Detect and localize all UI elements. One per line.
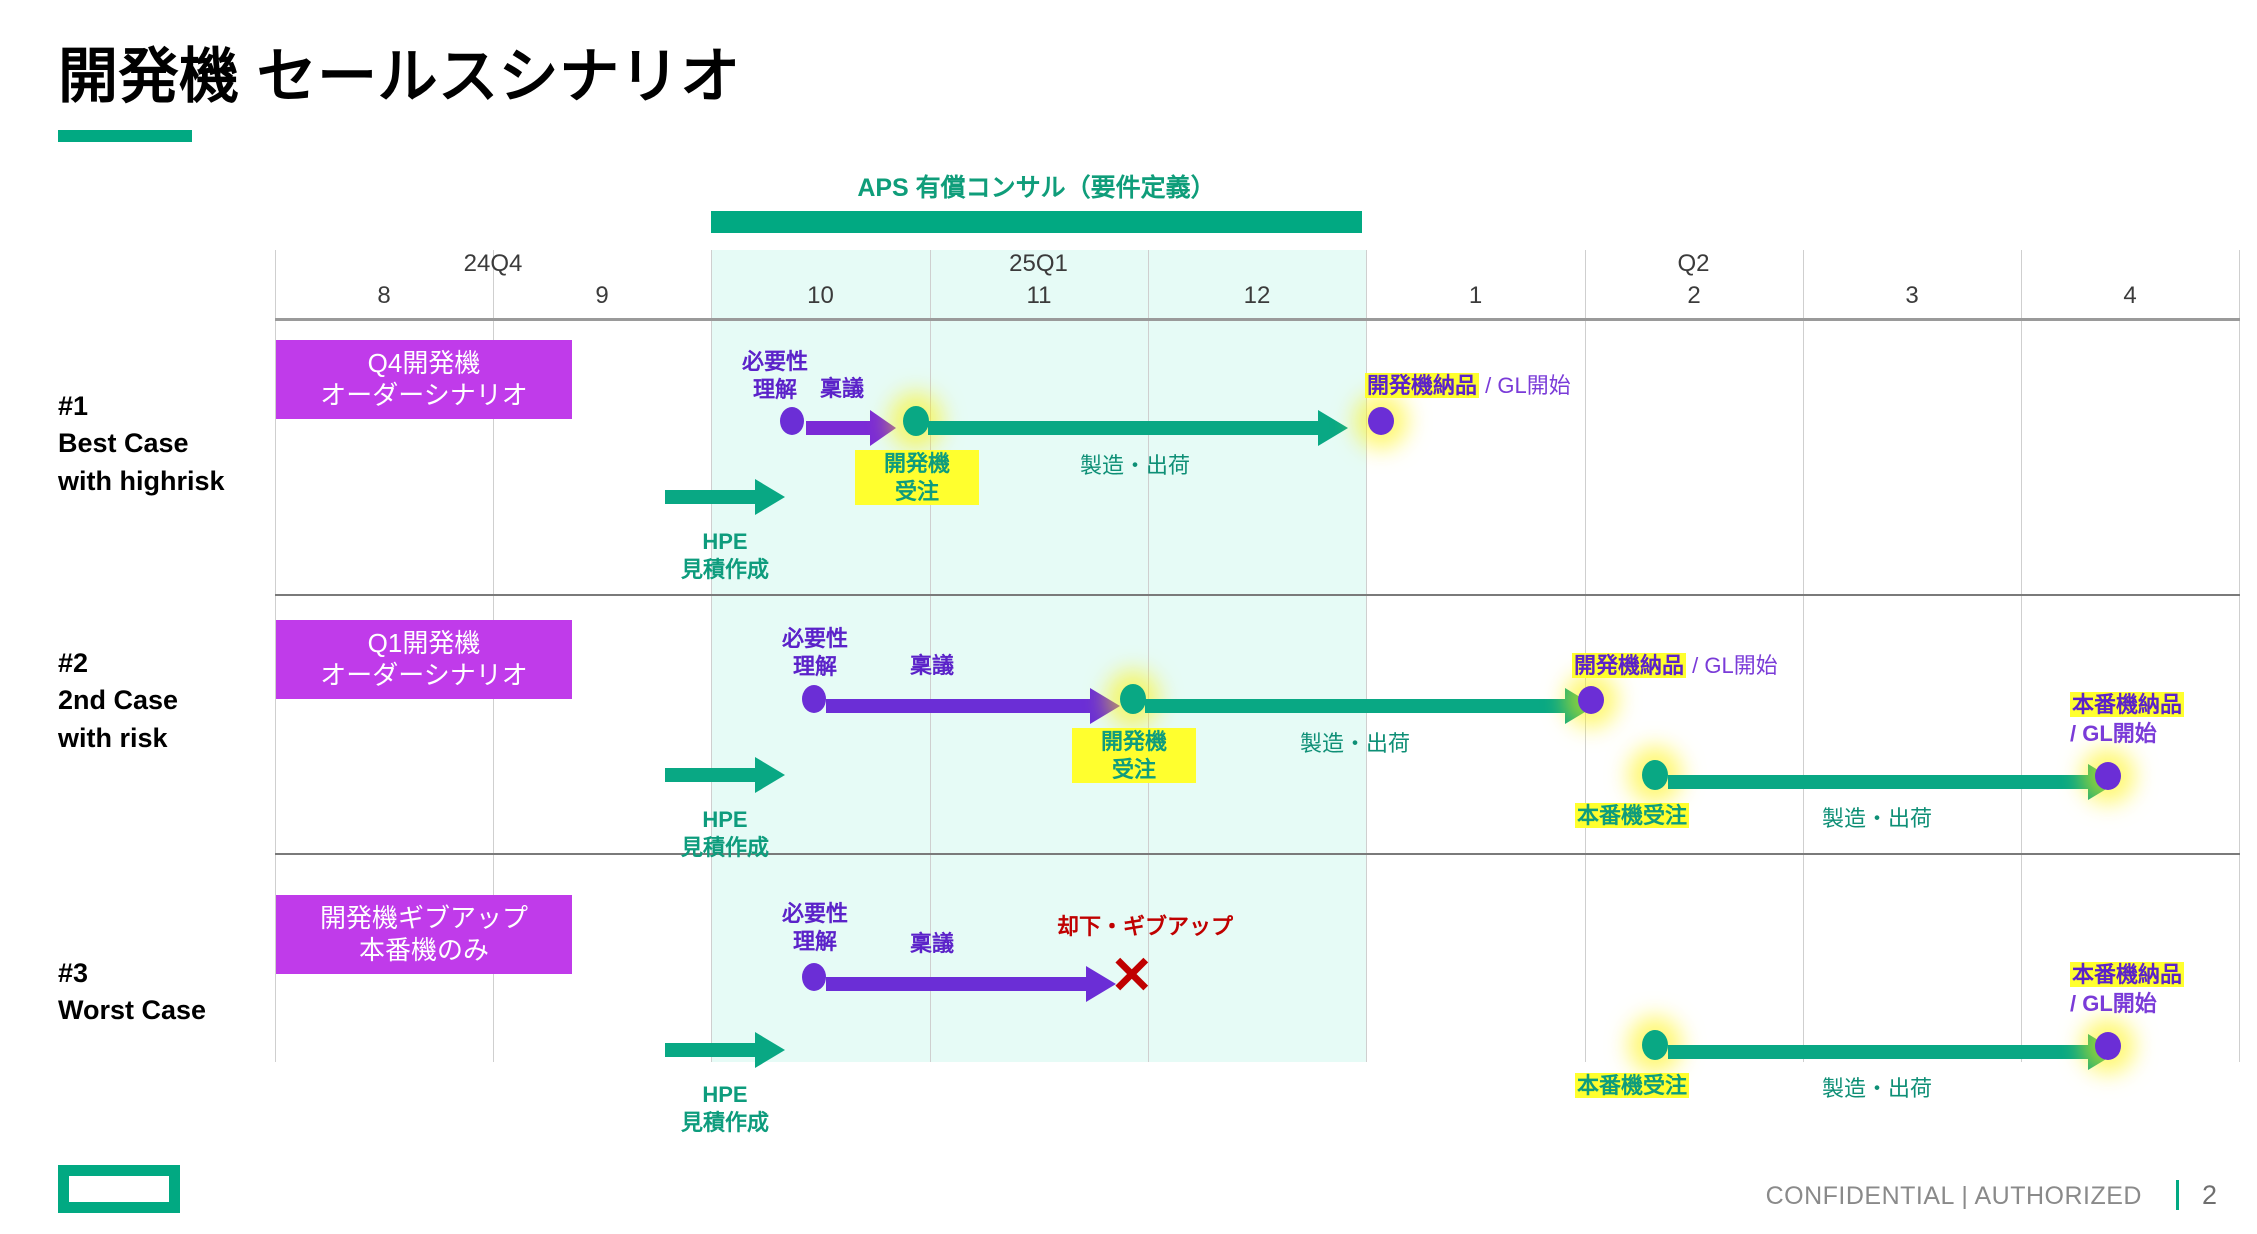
- prod-delivery-label-2-rest: / GL開始: [2070, 721, 2157, 746]
- footer-divider: [2176, 1180, 2179, 1210]
- quarter-label-25Q1: 25Q1: [711, 250, 1366, 278]
- hpe-logo: [58, 1165, 180, 1213]
- scenario-badge-3[interactable]: 開発機ギブアップ 本番機のみ: [276, 895, 572, 974]
- prod-delivery-label-3: 本番機納品 / GL開始: [2070, 960, 2184, 1018]
- dev-order-label-2-line1: 開発機: [1072, 728, 1196, 756]
- month-label-11: 11: [930, 282, 1148, 310]
- hpe-quote-label-2: HPE 見積作成: [640, 806, 810, 861]
- necessity-label-2-line2: 理解: [760, 653, 870, 681]
- scenario-badge-1[interactable]: Q4開発機 オーダーシナリオ: [276, 340, 572, 419]
- necessity-dot-1: [780, 407, 804, 435]
- row-label-1-line2: Best Case: [58, 425, 225, 462]
- scenario-badge-3-line1: 開発機ギブアップ: [286, 903, 562, 935]
- prod-order-dot-3: [1642, 1030, 1668, 1060]
- necessity-dot-3: [802, 963, 826, 991]
- scenario-badge-1-line1: Q4開発機: [286, 348, 562, 380]
- necessity-label-1-line2: 理解: [720, 376, 830, 404]
- quarter-label-Q2: Q2: [1366, 250, 2021, 278]
- ringi-label-2: 稟議: [910, 652, 954, 680]
- hpe-quote-label-1-line1: HPE: [640, 528, 810, 556]
- prod-delivery-label-2-hl: 本番機納品: [2070, 692, 2184, 717]
- row-label-2: #2 2nd Case with risk: [58, 645, 178, 757]
- prod-delivery-dot-2: [2095, 762, 2121, 790]
- necessity-label-1: 必要性 理解: [720, 348, 830, 403]
- delivery-label-1: 開発機納品 / GL開始: [1365, 372, 1571, 400]
- page-number: 2: [2202, 1180, 2217, 1211]
- hpe-quote-label-1-line2: 見積作成: [640, 556, 810, 584]
- month-label-2: 2: [1585, 282, 1803, 310]
- giveup-x-icon: ✕: [1110, 950, 1154, 1002]
- row-separator: [275, 853, 2240, 855]
- prod-delivery-label-3-hl: 本番機納品: [2070, 962, 2184, 987]
- prod-delivery-dot-3: [2095, 1032, 2121, 1060]
- month-label-3: 3: [1803, 282, 2021, 310]
- necessity-label-3-line2: 理解: [760, 928, 870, 956]
- prod-manufacture-label-3: 製造・出荷: [1822, 1075, 1932, 1103]
- giveup-label-3: 却下・ギブアップ: [1057, 913, 1233, 941]
- prod-order-label-2: 本番機受注: [1575, 802, 1689, 830]
- dev-order-dot-2: [1120, 684, 1146, 714]
- dev-order-dot-1: [903, 406, 929, 436]
- axis-baseline: [275, 318, 2240, 321]
- prod-order-label-3-hl: 本番機受注: [1575, 1073, 1689, 1098]
- dev-order-label-2-line2: 受注: [1072, 756, 1196, 784]
- hpe-quote-label-1: HPE 見積作成: [640, 528, 810, 583]
- month-label-1: 1: [1366, 282, 1585, 310]
- prod-order-label-2-hl: 本番機受注: [1575, 803, 1689, 828]
- row-label-1-line1: #1: [58, 388, 225, 425]
- quarter-label-24Q4: 24Q4: [275, 250, 711, 278]
- hpe-quote-label-3-line1: HPE: [640, 1081, 810, 1109]
- month-label-8: 8: [275, 282, 493, 310]
- delivery-label-2: 開発機納品 / GL開始: [1572, 652, 1778, 680]
- necessity-label-1-line1: 必要性: [720, 348, 830, 376]
- hpe-quote-label-2-line1: HPE: [640, 806, 810, 834]
- prod-manufacture-label-2: 製造・出荷: [1822, 805, 1932, 833]
- page-title: 開発機 セールスシナリオ: [58, 28, 741, 115]
- dev-order-label-1-line1: 開発機: [855, 450, 979, 478]
- scenario-badge-1-line2: オーダーシナリオ: [286, 380, 562, 412]
- aps-consult-band: [711, 211, 1362, 233]
- row-label-2-line3: with risk: [58, 720, 178, 757]
- page-title-rest: セールスシナリオ: [240, 43, 741, 110]
- scenario-badge-2-line1: Q1開発機: [286, 628, 562, 660]
- scenario-badge-2[interactable]: Q1開発機 オーダーシナリオ: [276, 620, 572, 699]
- necessity-label-3: 必要性 理解: [760, 900, 870, 955]
- prod-delivery-label-2: 本番機納品 / GL開始: [2070, 690, 2184, 748]
- scenario-badge-3-line2: 本番機のみ: [286, 935, 562, 967]
- timeline-header: 24Q4 25Q1 Q2 8 9 10 11 12 1 2 3 4: [275, 250, 2240, 318]
- gridline-v: [2239, 250, 2240, 1062]
- page-title-bold: 開発機: [58, 43, 240, 110]
- ringi-label-1: 稟議: [820, 375, 864, 403]
- row-label-3-line2: Worst Case: [58, 992, 206, 1029]
- delivery-dot-1: [1368, 407, 1394, 435]
- delivery-label-1-hl: 開発機納品: [1365, 373, 1479, 398]
- gridline-v: [1803, 250, 1804, 1062]
- dev-order-label-1-line2: 受注: [855, 478, 979, 506]
- necessity-dot-2: [802, 685, 826, 713]
- prod-order-label-3: 本番機受注: [1575, 1072, 1689, 1100]
- row-label-3: #3 Worst Case: [58, 955, 206, 1030]
- manufacture-label-2: 製造・出荷: [1300, 730, 1410, 758]
- delivery-label-1-rest: / GL開始: [1479, 373, 1571, 398]
- confidential-notice: CONFIDENTIAL | AUTHORIZED: [1766, 1182, 2142, 1211]
- month-label-10: 10: [711, 282, 930, 310]
- title-underline-rule: [58, 130, 192, 142]
- hpe-quote-label-3: HPE 見積作成: [640, 1081, 810, 1136]
- prod-delivery-label-3-rest: / GL開始: [2070, 991, 2157, 1016]
- necessity-label-3-line1: 必要性: [760, 900, 870, 928]
- prod-order-dot-2: [1642, 760, 1668, 790]
- gridline-v: [2021, 250, 2022, 1062]
- aps-consult-label: APS 有償コンサル（要件定義）: [711, 168, 1362, 204]
- month-label-9: 9: [493, 282, 711, 310]
- row-label-2-line1: #2: [58, 645, 178, 682]
- dev-order-label-2: 開発機 受注: [1072, 728, 1196, 783]
- delivery-label-2-rest: / GL開始: [1686, 653, 1778, 678]
- row-separator: [275, 594, 2240, 596]
- hpe-quote-label-3-line2: 見積作成: [640, 1109, 810, 1137]
- month-label-4: 4: [2021, 282, 2239, 310]
- row-label-1-line3: with highrisk: [58, 463, 225, 500]
- delivery-dot-2: [1578, 686, 1604, 714]
- gridline-v: [711, 250, 712, 1062]
- dev-order-label-1: 開発機 受注: [855, 450, 979, 505]
- row-label-3-line1: #3: [58, 955, 206, 992]
- ringi-label-3: 稟議: [910, 930, 954, 958]
- row-label-1: #1 Best Case with highrisk: [58, 388, 225, 500]
- hpe-quote-label-2-line2: 見積作成: [640, 834, 810, 862]
- row-label-2-line2: 2nd Case: [58, 682, 178, 719]
- scenario-badge-2-line2: オーダーシナリオ: [286, 660, 562, 692]
- delivery-label-2-hl: 開発機納品: [1572, 653, 1686, 678]
- month-label-12: 12: [1148, 282, 1366, 310]
- necessity-label-2-line1: 必要性: [760, 625, 870, 653]
- necessity-label-2: 必要性 理解: [760, 625, 870, 680]
- manufacture-label-1: 製造・出荷: [1080, 452, 1190, 480]
